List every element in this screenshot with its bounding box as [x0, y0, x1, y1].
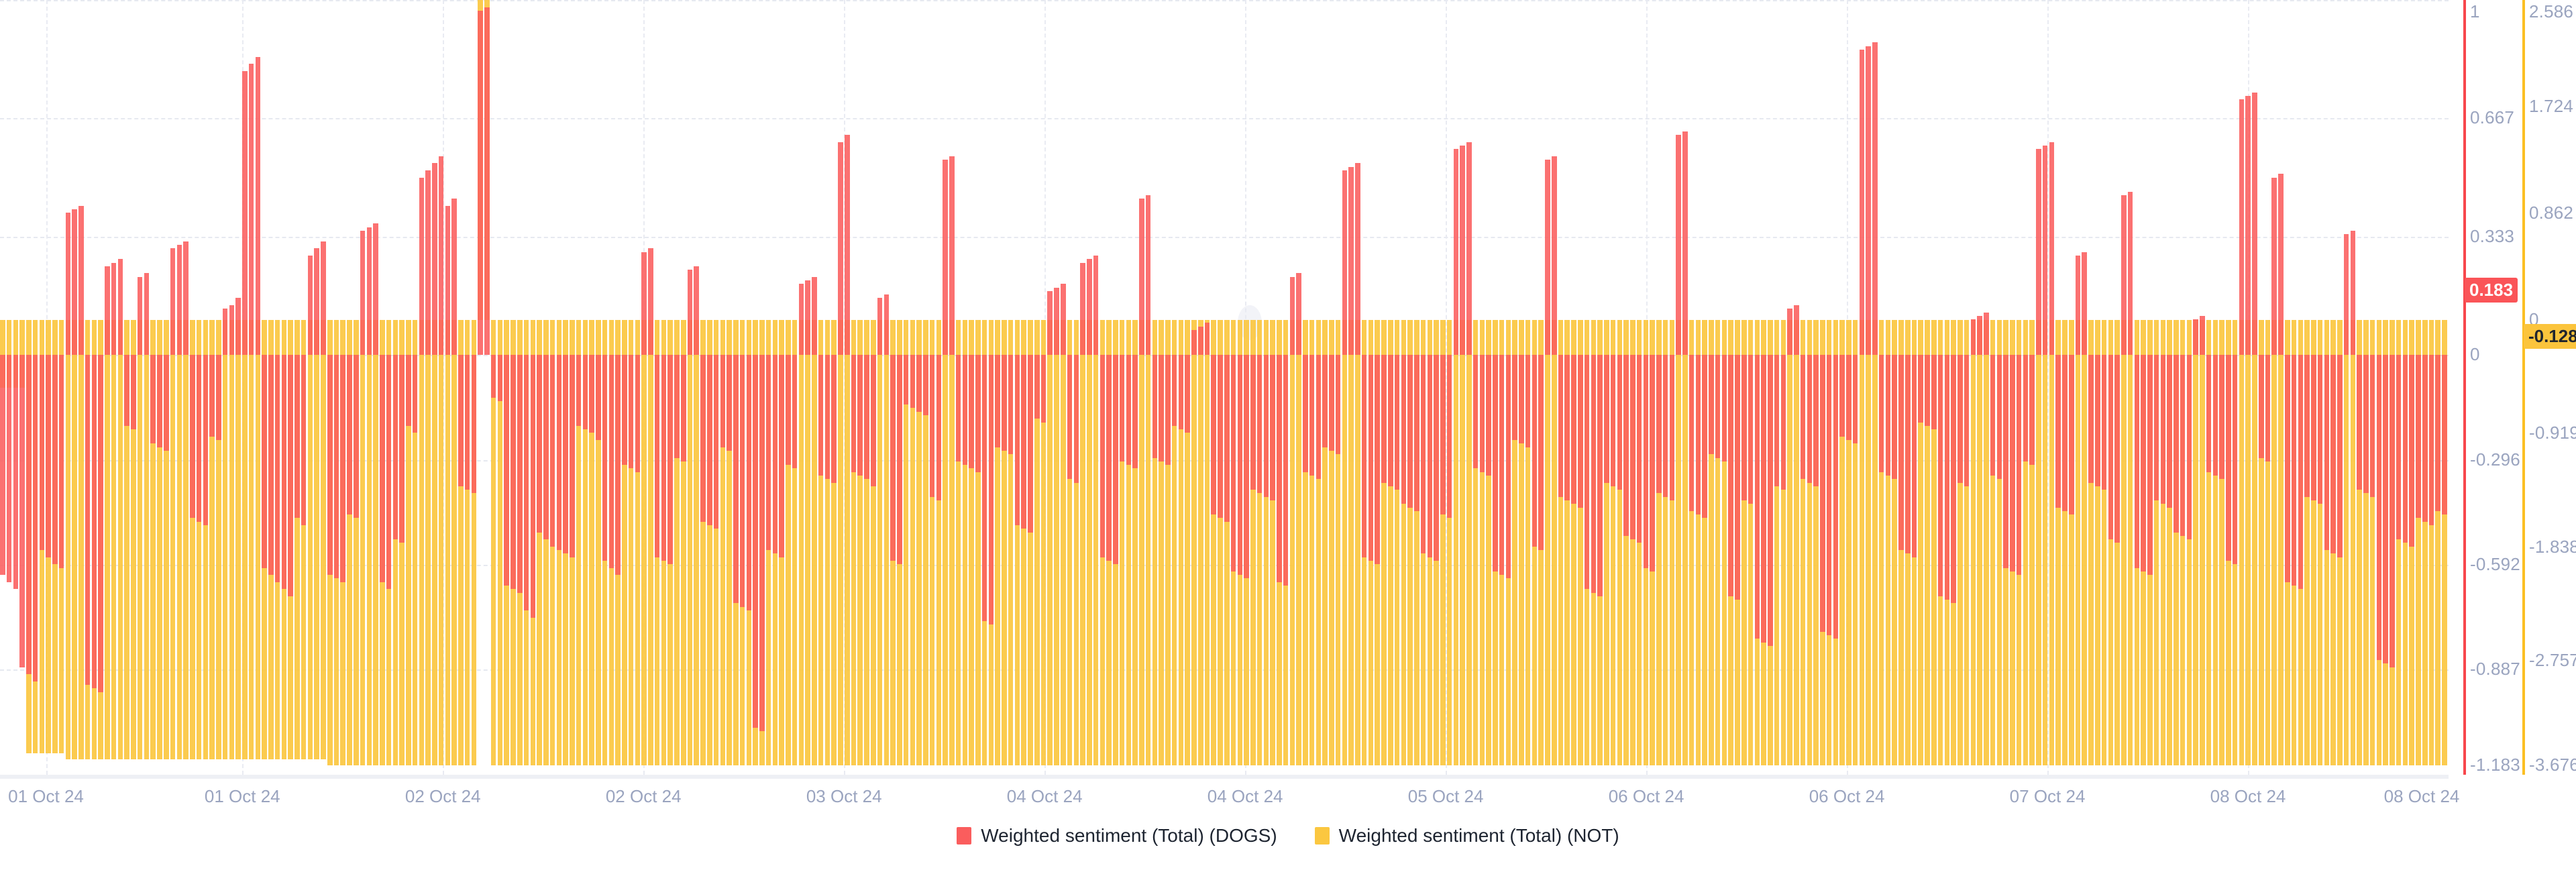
- bar: [1820, 355, 1825, 632]
- legend-swatch-icon: [1315, 827, 1330, 844]
- bar: [1761, 355, 1766, 643]
- legend: Weighted sentiment (Total) (DOGS)Weighte…: [0, 825, 2576, 847]
- bar: [1741, 355, 1747, 500]
- bar: [1912, 355, 1917, 557]
- bar: [465, 355, 470, 490]
- bar: [2017, 355, 2022, 575]
- bar: [851, 355, 857, 472]
- bar: [419, 178, 425, 356]
- bar: [33, 355, 38, 682]
- bar: [1126, 355, 1132, 465]
- bar: [2003, 355, 2008, 567]
- y-tick-label: -1.183: [2470, 755, 2520, 775]
- bar: [1054, 288, 1059, 356]
- bar: [799, 284, 804, 355]
- bar: [2102, 355, 2107, 490]
- bar: [511, 355, 516, 589]
- bar: [2114, 355, 2120, 543]
- bar: [2442, 355, 2447, 514]
- bar: [1270, 355, 1275, 500]
- bar: [1722, 355, 1727, 461]
- bar: [373, 223, 378, 355]
- bar: [1604, 355, 1609, 482]
- bar: [2161, 355, 2166, 504]
- bar: [1205, 323, 1210, 355]
- bar: [1499, 355, 1505, 575]
- bar: [563, 355, 568, 553]
- bar: [98, 355, 103, 692]
- x-tick-label: 02 Oct 24: [606, 786, 682, 807]
- plot-area[interactable]: [0, 0, 2449, 775]
- x-tick-label: 08 Oct 24: [2384, 786, 2460, 807]
- bar: [524, 355, 529, 610]
- y-tick-label: -3.676: [2529, 755, 2576, 775]
- bar: [1329, 355, 1334, 451]
- bar: [1008, 355, 1014, 454]
- bar: [2167, 355, 2172, 508]
- bar: [170, 248, 176, 355]
- y-tick-label: -0.919: [2529, 423, 2576, 443]
- bar: [256, 57, 261, 355]
- bar: [118, 259, 123, 355]
- bar: [602, 355, 608, 561]
- bar: [1682, 131, 1688, 355]
- bar: [2292, 355, 2297, 586]
- current-value-dogs: 0.183: [2465, 278, 2518, 303]
- bar: [1611, 355, 1616, 486]
- bar: [209, 355, 215, 437]
- bar: [1807, 355, 1813, 482]
- bar: [2036, 149, 2041, 355]
- bar: [2435, 355, 2440, 511]
- x-tick-label: 05 Oct 24: [1408, 786, 1484, 807]
- bar: [229, 305, 235, 355]
- bar: [897, 355, 902, 564]
- bar: [805, 280, 810, 355]
- bar: [1231, 355, 1236, 571]
- bar: [1290, 277, 1295, 355]
- bar: [1244, 355, 1249, 578]
- bar: [2219, 355, 2224, 479]
- bar: [1990, 355, 1996, 476]
- bar: [2265, 355, 2271, 461]
- bar: [1473, 355, 1479, 468]
- y-tick-label: 0.862: [2529, 203, 2573, 223]
- bar: [288, 355, 293, 596]
- bar: [923, 355, 928, 415]
- bar: [197, 355, 202, 522]
- bar: [150, 355, 156, 443]
- bar: [930, 355, 935, 497]
- bar: [1951, 355, 1956, 603]
- bar: [1277, 355, 1282, 582]
- bar: [2206, 355, 2212, 472]
- bar: [1984, 313, 1989, 355]
- bar: [2409, 355, 2414, 547]
- bar-series-dogs: [0, 0, 2449, 775]
- bar: [393, 355, 398, 539]
- bar: [1414, 355, 1419, 511]
- bar: [2043, 146, 2048, 355]
- bar: [386, 355, 392, 589]
- bar: [1493, 355, 1498, 571]
- bar: [1656, 355, 1662, 493]
- bar: [1905, 355, 1911, 553]
- bar: [1264, 355, 1269, 497]
- bar: [1159, 355, 1164, 461]
- bar: [131, 355, 136, 429]
- bar: [40, 355, 45, 550]
- bar: [1630, 355, 1635, 539]
- bar: [235, 298, 241, 355]
- bar: [596, 355, 601, 440]
- bar: [1676, 135, 1681, 355]
- bar: [425, 170, 431, 355]
- bar: [1100, 355, 1106, 557]
- bar: [956, 355, 961, 461]
- bar: [406, 355, 411, 426]
- bar: [2370, 355, 2375, 497]
- bar: [484, 7, 490, 356]
- bar: [831, 355, 837, 482]
- bar: [2383, 355, 2388, 663]
- current-value-not: -0.128: [2524, 324, 2576, 349]
- bar: [2055, 355, 2061, 508]
- bar: [1381, 355, 1387, 482]
- x-tick-label: 06 Oct 24: [1809, 786, 1885, 807]
- bar: [46, 355, 51, 557]
- bar: [557, 355, 562, 550]
- bar: [773, 355, 778, 553]
- bar: [399, 355, 405, 543]
- bar: [1191, 330, 1197, 355]
- bar: [1709, 355, 1714, 454]
- bar: [1617, 355, 1623, 490]
- bar: [1506, 355, 1511, 578]
- bar: [1428, 355, 1433, 557]
- bar: [2239, 99, 2245, 355]
- bar: [1093, 256, 1099, 355]
- bar: [1087, 259, 1092, 355]
- bar: [327, 355, 333, 575]
- bar: [707, 355, 712, 525]
- bar: [1322, 355, 1328, 447]
- y-tick-label: -1.838: [2529, 537, 2576, 557]
- bar: [1047, 291, 1053, 355]
- bar: [2010, 355, 2015, 571]
- bar: [380, 355, 385, 582]
- bar: [615, 355, 621, 575]
- bar: [451, 199, 457, 355]
- bar: [1061, 284, 1066, 355]
- bar: [164, 355, 169, 451]
- bar: [2029, 355, 2035, 465]
- bar: [904, 355, 909, 404]
- bar: [105, 266, 110, 355]
- bar: [779, 355, 784, 557]
- y-axis-not-line: [2522, 0, 2525, 775]
- bar: [144, 273, 150, 355]
- bar: [1342, 170, 1348, 355]
- bar: [818, 355, 824, 476]
- bar: [1309, 355, 1315, 476]
- bar: [884, 294, 890, 355]
- y-tick-label: 0: [2470, 344, 2480, 365]
- bar: [1218, 355, 1223, 518]
- bar: [432, 163, 437, 355]
- bar: [648, 248, 653, 355]
- bar: [661, 355, 667, 561]
- bar: [1623, 355, 1629, 536]
- legend-swatch-icon: [957, 827, 971, 844]
- bar: [2252, 93, 2257, 356]
- bar: [439, 156, 444, 355]
- x-tick-label: 06 Oct 24: [1609, 786, 1684, 807]
- bar: [2082, 252, 2087, 355]
- bar: [249, 64, 254, 355]
- x-tick-label: 03 Oct 24: [806, 786, 882, 807]
- bar: [360, 231, 366, 355]
- bar: [537, 355, 542, 533]
- bar: [641, 252, 647, 355]
- bar: [445, 206, 451, 355]
- bar: [2416, 355, 2421, 518]
- bar: [216, 355, 221, 440]
- bar: [655, 355, 660, 557]
- bar: [1002, 355, 1007, 451]
- bar: [2422, 355, 2428, 522]
- bar: [85, 355, 91, 685]
- bar: [347, 355, 352, 514]
- x-tick-label: 07 Oct 24: [2010, 786, 2086, 807]
- bar: [2069, 355, 2074, 514]
- bar: [1892, 355, 1897, 479]
- bar: [1597, 355, 1603, 596]
- bar: [1591, 355, 1597, 592]
- bar: [1839, 355, 1845, 437]
- bar: [694, 266, 699, 355]
- bar: [1801, 355, 1806, 479]
- bar: [190, 355, 195, 518]
- bar: [7, 355, 12, 582]
- bar: [674, 355, 680, 457]
- bar: [294, 355, 300, 518]
- bar: [1925, 355, 1930, 426]
- bar: [1728, 355, 1733, 596]
- bar: [727, 355, 732, 451]
- bar: [2278, 174, 2284, 355]
- bar: [1945, 355, 1950, 600]
- bar: [268, 355, 274, 575]
- bar: [504, 355, 509, 586]
- bar: [1977, 316, 1982, 355]
- bar: [1637, 355, 1642, 543]
- bar: [1997, 355, 2002, 479]
- bar: [1362, 355, 1367, 557]
- bar: [877, 298, 883, 355]
- bar: [203, 355, 209, 525]
- bar: [1860, 50, 1865, 355]
- bar: [1139, 199, 1144, 355]
- bar: [1827, 355, 1832, 635]
- bar: [2304, 355, 2310, 497]
- bar: [766, 355, 771, 550]
- bar: [845, 135, 850, 355]
- bar: [1283, 355, 1289, 586]
- bar: [2344, 234, 2349, 355]
- bar: [1368, 355, 1374, 561]
- bar: [1918, 355, 1923, 423]
- bar: [1545, 160, 1550, 355]
- bar: [916, 355, 922, 412]
- bar: [2173, 355, 2179, 533]
- bar: [1480, 355, 1485, 472]
- bar: [995, 355, 1000, 447]
- bar: [1755, 355, 1760, 639]
- bar: [1179, 355, 1184, 429]
- bar: [1120, 355, 1125, 461]
- y-axis-dogs-line: [2463, 0, 2466, 775]
- bar: [1388, 355, 1393, 486]
- bar: [2088, 355, 2094, 482]
- bar: [1670, 355, 1675, 500]
- bar: [1538, 355, 1544, 550]
- bar: [871, 355, 876, 486]
- bar: [1165, 355, 1171, 465]
- bar: [550, 355, 555, 547]
- bar: [2187, 355, 2192, 539]
- bar: [2363, 355, 2369, 493]
- bar: [531, 355, 536, 618]
- bar: [458, 355, 464, 486]
- bar: [1571, 355, 1576, 504]
- bar: [570, 355, 575, 557]
- bar: [786, 355, 791, 465]
- bar: [275, 355, 280, 582]
- bar: [1080, 263, 1085, 356]
- bar: [753, 355, 758, 728]
- bar: [2311, 355, 2316, 500]
- bar: [1644, 355, 1649, 567]
- y-tick-label: 1.724: [2529, 96, 2573, 117]
- bar: [1238, 355, 1243, 575]
- bar: [242, 71, 248, 355]
- bar: [576, 355, 582, 426]
- bar: [2429, 355, 2434, 525]
- bar: [1525, 355, 1531, 447]
- bar: [949, 156, 955, 355]
- bar: [1512, 355, 1517, 440]
- bar: [1813, 355, 1819, 486]
- bar: [1401, 355, 1407, 504]
- y-tick-label: 0.667: [2470, 107, 2514, 128]
- bar: [975, 355, 981, 472]
- bar: [2049, 142, 2055, 355]
- bar: [177, 245, 182, 355]
- bar: [1185, 355, 1190, 433]
- bar: [1794, 305, 1799, 355]
- bar: [2213, 355, 2218, 476]
- bar: [2357, 355, 2362, 490]
- bar: [1407, 355, 1413, 508]
- bar: [740, 355, 745, 607]
- bar: [1296, 273, 1301, 355]
- x-tick-label: 01 Oct 24: [205, 786, 280, 807]
- bar: [1198, 327, 1203, 355]
- bar: [1931, 355, 1937, 429]
- bar: [367, 227, 372, 355]
- bar: [936, 355, 942, 500]
- bar: [2271, 178, 2277, 356]
- bar: [2318, 355, 2323, 504]
- bar: [963, 355, 968, 465]
- bar: [183, 241, 189, 355]
- bar: [498, 355, 503, 401]
- bar: [1067, 355, 1073, 479]
- legend-item[interactable]: Weighted sentiment (Total) (DOGS): [957, 825, 1277, 847]
- bar: [1971, 319, 1976, 355]
- y-tick-label: 2.586: [2529, 1, 2573, 22]
- y-tick-label: 1: [2470, 1, 2480, 22]
- bar: [1702, 355, 1707, 518]
- bar: [2377, 355, 2382, 660]
- bar: [1106, 355, 1112, 561]
- bar: [2259, 355, 2264, 457]
- bar: [2135, 355, 2140, 567]
- bar: [2298, 355, 2304, 589]
- bar: [2095, 355, 2100, 486]
- bar: [72, 209, 77, 355]
- y-tick-label: -0.887: [2470, 659, 2520, 679]
- bar: [2324, 355, 2330, 550]
- bar: [2076, 256, 2081, 355]
- bar: [157, 355, 162, 447]
- bar: [1663, 355, 1668, 497]
- bar: [890, 355, 896, 561]
- bar: [354, 355, 359, 518]
- bar: [864, 355, 869, 479]
- bar: [1715, 355, 1721, 457]
- bar: [111, 263, 117, 356]
- bar: [759, 355, 765, 731]
- bar: [1257, 355, 1263, 493]
- bar: [681, 355, 686, 461]
- bar: [825, 355, 830, 479]
- bar: [609, 355, 614, 567]
- bar: [2337, 355, 2343, 557]
- bar: [26, 355, 32, 674]
- bar: [1021, 355, 1026, 529]
- bar: [1028, 355, 1033, 533]
- bar: [1113, 355, 1118, 564]
- bar: [583, 355, 588, 429]
- bar: [857, 355, 863, 476]
- bar: [262, 355, 267, 567]
- legend-item[interactable]: Weighted sentiment (Total) (NOT): [1315, 825, 1619, 847]
- bar: [1454, 149, 1459, 355]
- bar: [2245, 96, 2251, 355]
- bar: [334, 355, 339, 578]
- x-tick-label: 02 Oct 24: [405, 786, 481, 807]
- bar: [223, 309, 228, 355]
- bar: [2403, 355, 2408, 543]
- bar: [1689, 355, 1695, 511]
- bar: [838, 142, 843, 355]
- bar: [2121, 195, 2127, 355]
- bar: [2233, 355, 2238, 564]
- bar: [2226, 355, 2231, 561]
- x-tick-label: 01 Oct 24: [8, 786, 84, 807]
